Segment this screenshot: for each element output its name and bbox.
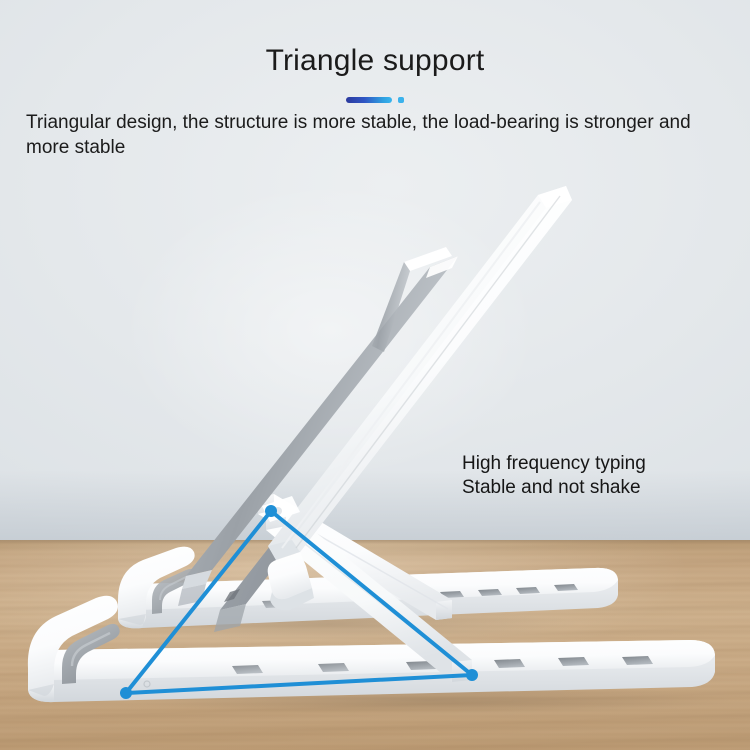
desk-front-edge-line bbox=[0, 540, 750, 544]
feature-callout-text: High frequency typing Stable and not sha… bbox=[462, 452, 646, 500]
title-divider bbox=[340, 94, 410, 106]
desk-light-sheen bbox=[0, 540, 750, 750]
page-title: Triangle support bbox=[0, 44, 750, 78]
wooden-desk-surface bbox=[0, 540, 750, 750]
divider-bar bbox=[346, 97, 392, 103]
divider-dot bbox=[398, 97, 404, 103]
product-poster: Triangle support Triangular design, the … bbox=[0, 0, 750, 750]
page-subtitle: Triangular design, the structure is more… bbox=[26, 110, 732, 160]
